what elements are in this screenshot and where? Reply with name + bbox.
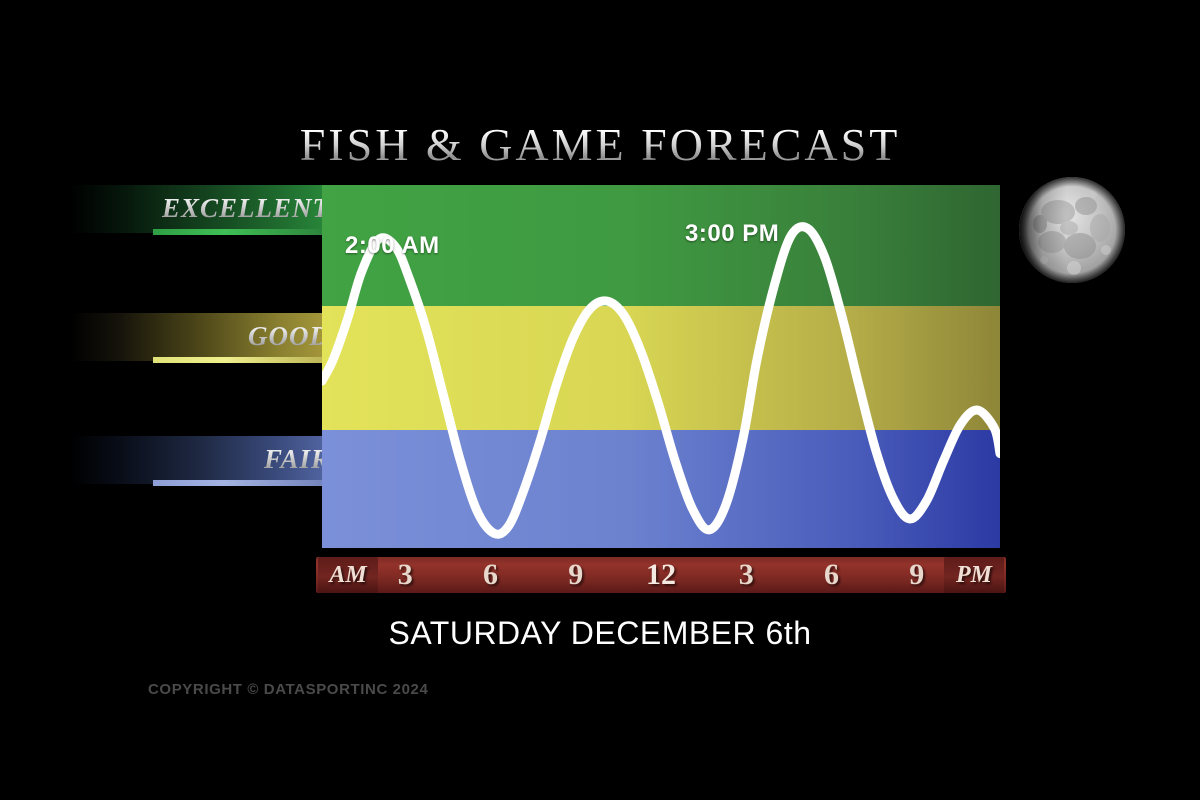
legend-underline-fair [153,480,332,486]
peak-label-afternoon: 3:00 PM [685,220,779,248]
axis-tick-3-1: 3 [376,557,434,593]
legend-label-good: GOOD [70,315,332,357]
legend-label-fair: FAIR [70,438,332,480]
fish-game-forecast-panel: FISH & GAME FORECAST FISH & GAME FORECAS… [0,0,1200,800]
axis-tick-6-2: 6 [462,557,520,593]
axis-tick-12-4: 12 [632,557,690,593]
copyright-notice: COPYRIGHT © DATASPORTINC 2024 [148,681,428,698]
legend-underline-excellent [153,229,332,235]
axis-tick-pm-8: PM [944,557,1004,593]
axis-tick-9-3: 9 [547,557,605,593]
time-axis: AM36912369PM [316,557,1006,593]
legend-item-excellent: EXCELLENT [70,185,332,241]
legend-underline-good [153,357,332,363]
legend-item-fair: FAIR [70,436,332,492]
axis-tick-6-6: 6 [803,557,861,593]
page-title: FISH & GAME FORECAST [0,118,1200,171]
forecast-date: SATURDAY DECEMBER 6th [0,615,1200,652]
axis-tick-am-0: AM [318,557,378,593]
axis-tick-9-7: 9 [888,557,946,593]
axis-tick-3-5: 3 [717,557,775,593]
legend-label-excellent: EXCELLENT [70,187,332,229]
legend-item-good: GOOD [70,313,332,369]
moon-phase-icon [1014,172,1130,288]
peak-label-morning: 2:00 AM [345,232,440,260]
